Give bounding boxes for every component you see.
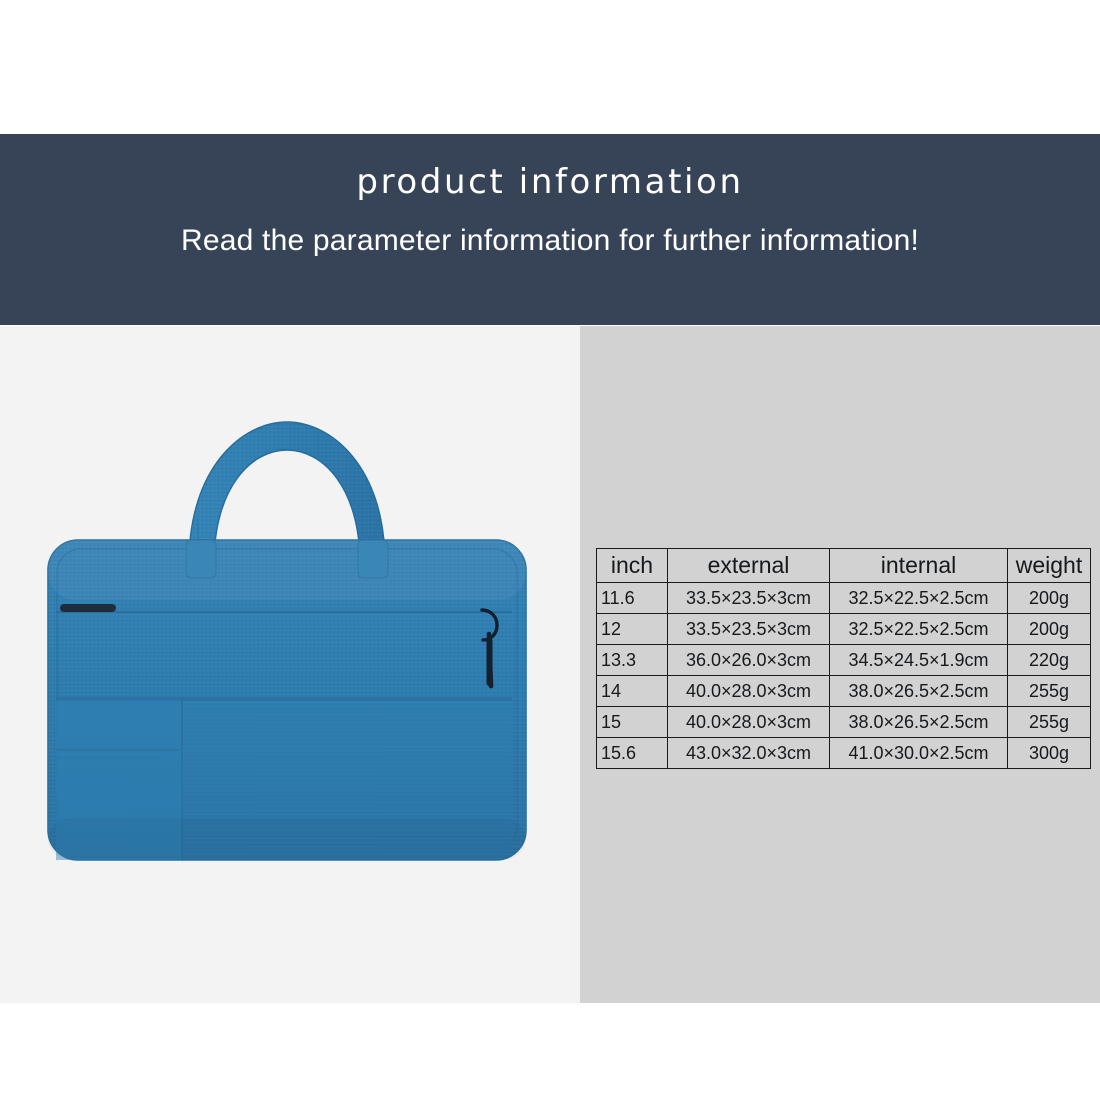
cell-internal: 38.0×26.5×2.5cm <box>830 707 1008 738</box>
cell-inch: 12 <box>597 614 668 645</box>
cell-internal: 32.5×22.5×2.5cm <box>830 614 1008 645</box>
table-row: 11.6 33.5×23.5×3cm 32.5×22.5×2.5cm 200g <box>597 583 1091 614</box>
cell-inch: 15 <box>597 707 668 738</box>
table-row: 15 40.0×28.0×3cm 38.0×26.5×2.5cm 255g <box>597 707 1091 738</box>
cell-external: 40.0×28.0×3cm <box>668 676 830 707</box>
cell-inch: 11.6 <box>597 583 668 614</box>
product-information-page: product information Read the parameter i… <box>0 0 1100 1100</box>
cell-external: 36.0×26.0×3cm <box>668 645 830 676</box>
table-row: 14 40.0×28.0×3cm 38.0×26.5×2.5cm 255g <box>597 676 1091 707</box>
table-header-row: inch external internal weight <box>597 549 1091 583</box>
table-row: 15.6 43.0×32.0×3cm 41.0×30.0×2.5cm 300g <box>597 738 1091 769</box>
column-header-external: external <box>668 549 830 583</box>
product-photo-panel <box>0 326 580 1003</box>
cell-weight: 255g <box>1008 707 1091 738</box>
laptop-bag-image <box>42 398 532 868</box>
column-header-weight: weight <box>1008 549 1091 583</box>
cell-internal: 34.5×24.5×1.9cm <box>830 645 1008 676</box>
specification-panel: inch external internal weight 11.6 33.5×… <box>580 326 1100 1003</box>
cell-internal: 41.0×30.0×2.5cm <box>830 738 1008 769</box>
column-header-internal: internal <box>830 549 1008 583</box>
cell-weight: 220g <box>1008 645 1091 676</box>
cell-external: 33.5×23.5×3cm <box>668 614 830 645</box>
cell-internal: 38.0×26.5×2.5cm <box>830 676 1008 707</box>
cell-weight: 200g <box>1008 583 1091 614</box>
cell-external: 40.0×28.0×3cm <box>668 707 830 738</box>
cell-inch: 13.3 <box>597 645 668 676</box>
cell-weight: 300g <box>1008 738 1091 769</box>
table-row: 13.3 36.0×26.0×3cm 34.5×24.5×1.9cm 220g <box>597 645 1091 676</box>
table-row: 12 33.5×23.5×3cm 32.5×22.5×2.5cm 200g <box>597 614 1091 645</box>
cell-inch: 14 <box>597 676 668 707</box>
column-header-inch: inch <box>597 549 668 583</box>
cell-external: 43.0×32.0×3cm <box>668 738 830 769</box>
page-subtitle: Read the parameter information for furth… <box>0 224 1100 258</box>
header-banner: product information Read the parameter i… <box>0 134 1100 325</box>
cell-external: 33.5×23.5×3cm <box>668 583 830 614</box>
cell-weight: 200g <box>1008 614 1091 645</box>
cell-internal: 32.5×22.5×2.5cm <box>830 583 1008 614</box>
size-specification-table: inch external internal weight 11.6 33.5×… <box>596 548 1091 769</box>
cell-inch: 15.6 <box>597 738 668 769</box>
page-title: product information <box>0 162 1100 202</box>
cell-weight: 255g <box>1008 676 1091 707</box>
content-area: inch external internal weight 11.6 33.5×… <box>0 326 1100 1003</box>
